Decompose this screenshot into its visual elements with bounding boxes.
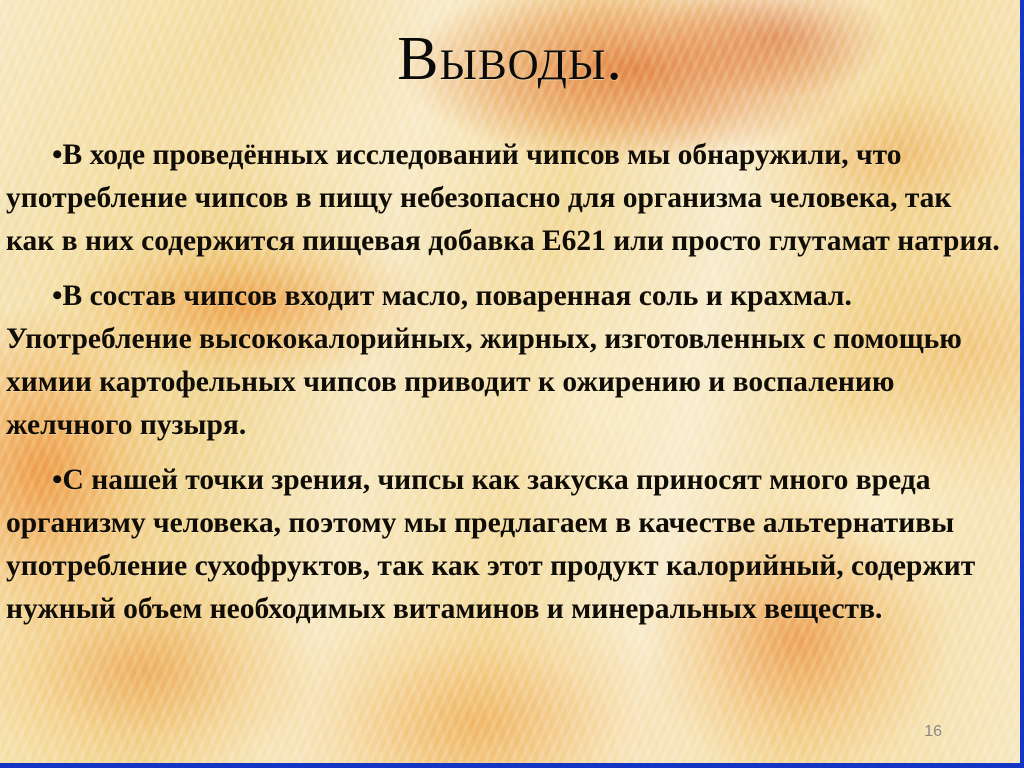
presentation-slide: Выводы. •В ходе проведённых исследований… (0, 0, 1024, 768)
bullet-item-3-text: С нашей точки зрения, чипсы как закуска … (6, 464, 975, 625)
slide-content: Выводы. •В ходе проведённых исследований… (0, 0, 1020, 763)
bullet-item-1: •В ходе проведённых исследований чипсов … (6, 134, 1002, 263)
bullet-list: •В ходе проведённых исследований чипсов … (6, 134, 1002, 631)
page-number: 16 (924, 723, 942, 741)
bullet-item-3: •С нашей точки зрения, чипсы как закуска… (6, 459, 1002, 631)
slide-title: Выводы. (0, 28, 1020, 90)
bullet-item-2: •В состав чипсов входит масло, поваренна… (6, 275, 1002, 447)
bullet-marker-icon: • (52, 463, 63, 496)
bullet-item-2-text: В состав чипсов входит масло, поваренная… (6, 280, 962, 441)
bullet-marker-icon: • (52, 138, 63, 171)
bullet-item-1-text: В ходе проведённых исследований чипсов м… (6, 139, 1000, 257)
bullet-marker-icon: • (52, 279, 63, 312)
